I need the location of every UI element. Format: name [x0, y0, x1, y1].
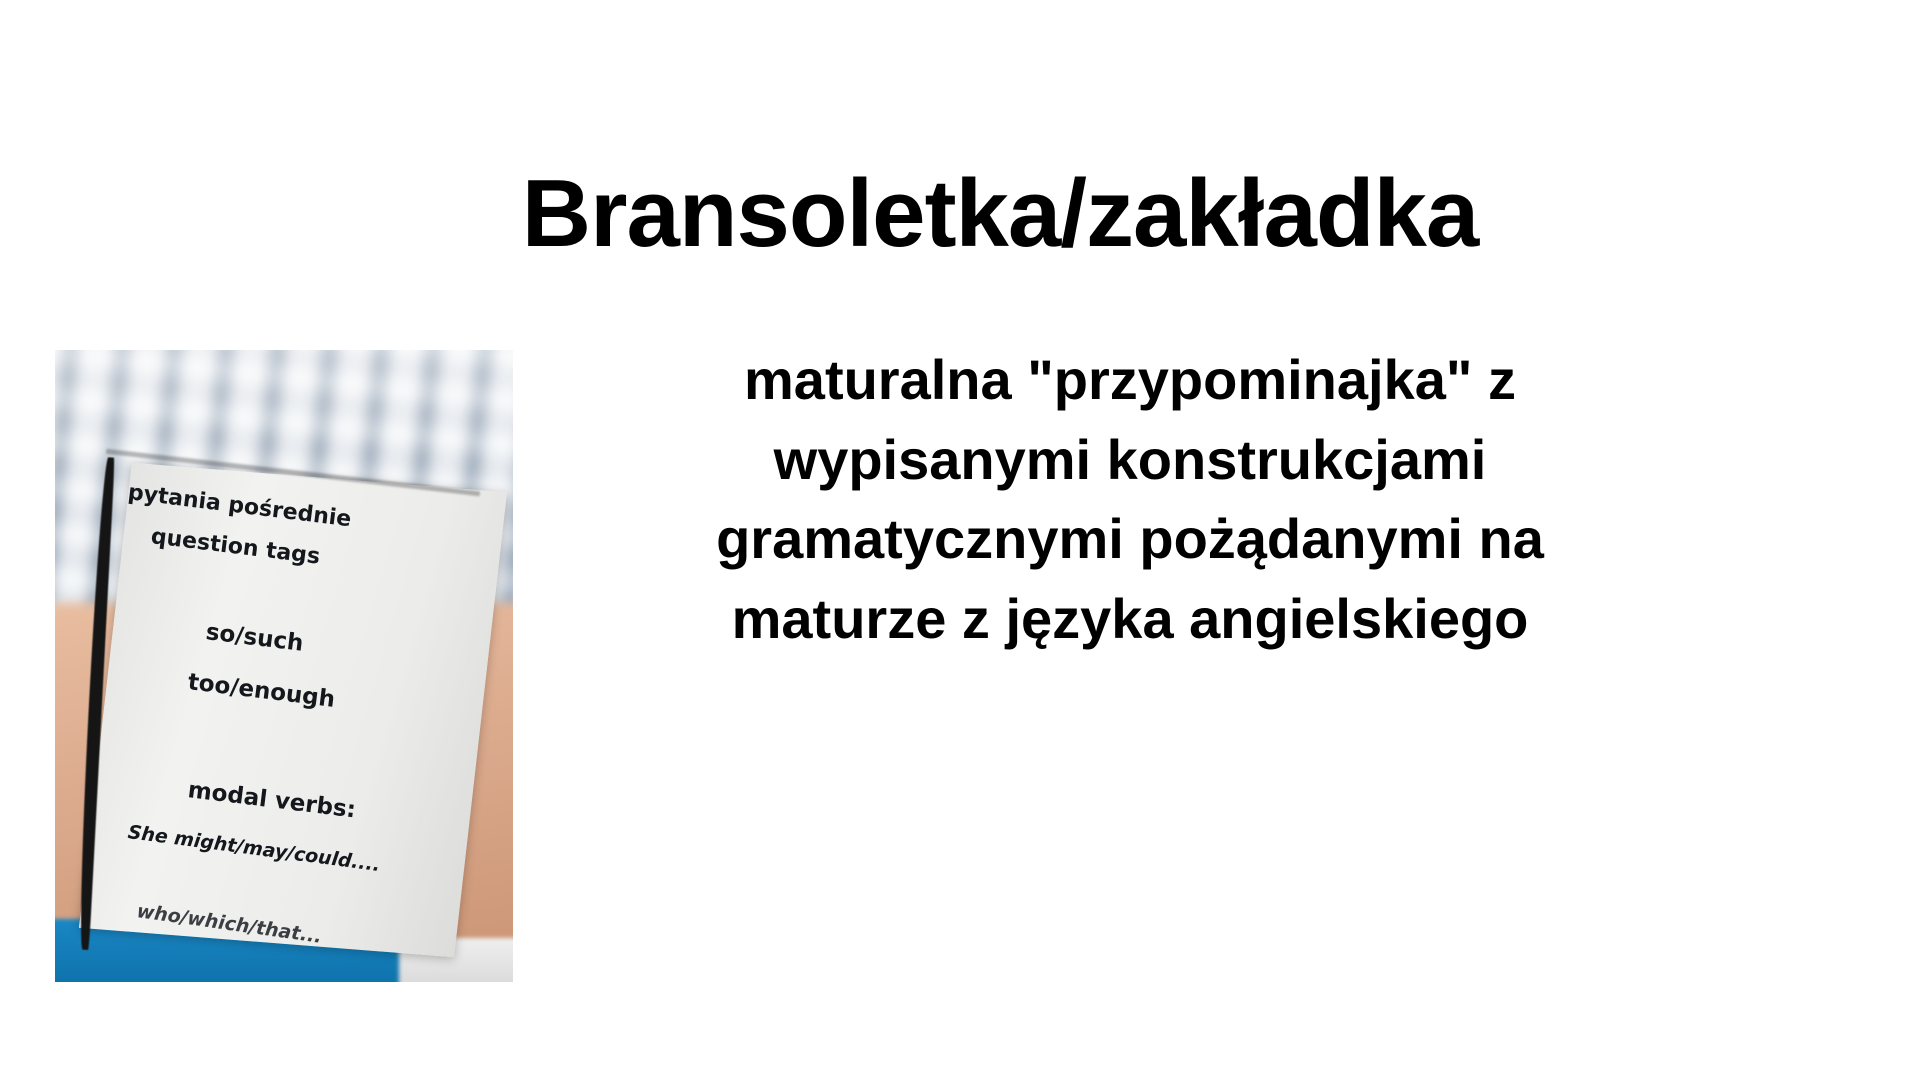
- body-line-3: gramatycznymi pożądanymi na: [560, 499, 1700, 579]
- strip-line-2: question tags: [150, 524, 322, 570]
- strip-line-6: She might/may/could....: [127, 821, 382, 876]
- strip-line-4: too/enough: [186, 669, 336, 713]
- bracelet-photo: pytania pośrednie question tags so/such …: [55, 350, 513, 982]
- strip-line-3: so/such: [205, 619, 305, 657]
- body-line-1: maturalna "przypominajka" z: [560, 340, 1700, 420]
- page-title: Bransoletka/zakładka: [400, 164, 1600, 265]
- strip-line-1: pytania pośrednie: [127, 480, 353, 532]
- strip-line-5: modal verbs:: [186, 777, 357, 823]
- body-line-4: maturze z języka angielskiego: [560, 579, 1700, 659]
- strip-text-group: pytania pośrednie question tags so/such …: [55, 350, 513, 982]
- body-paragraph: maturalna "przypominajka" z wypisanymi k…: [560, 340, 1700, 658]
- body-line-2: wypisanymi konstrukcjami: [560, 420, 1700, 500]
- strip-line-7: who/which/that...: [136, 900, 324, 948]
- slide: Bransoletka/zakładka maturalna "przypomi…: [0, 0, 1920, 1080]
